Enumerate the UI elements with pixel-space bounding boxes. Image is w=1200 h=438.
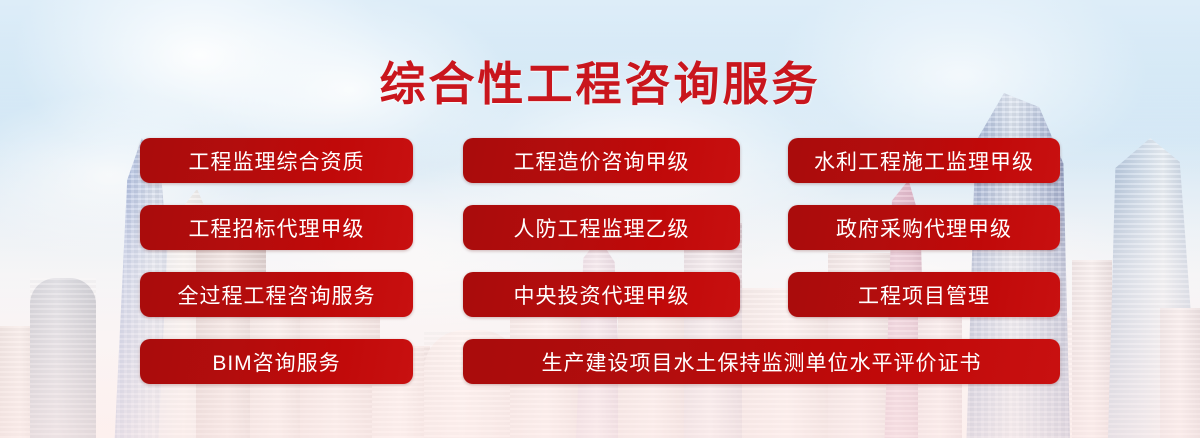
qualification-badge[interactable]: 中央投资代理甲级 xyxy=(463,272,740,317)
qualification-badge[interactable]: 工程造价咨询甲级 xyxy=(463,138,740,183)
qualification-badge[interactable]: BIM咨询服务 xyxy=(140,339,413,384)
qualification-badge[interactable]: 政府采购代理甲级 xyxy=(788,205,1060,250)
qualification-banner: 综合性工程咨询服务 工程监理综合资质 工程造价咨询甲级 水利工程施工监理甲级 工… xyxy=(0,0,1200,438)
qualification-badge[interactable]: 工程监理综合资质 xyxy=(140,138,413,183)
qualification-badge-wide[interactable]: 生产建设项目水土保持监测单位水平评价证书 xyxy=(463,339,1060,384)
qualification-badge[interactable]: 水利工程施工监理甲级 xyxy=(788,138,1060,183)
page-title: 综合性工程咨询服务 xyxy=(0,48,1200,114)
qualification-grid: 工程监理综合资质 工程造价咨询甲级 水利工程施工监理甲级 工程招标代理甲级 人防… xyxy=(140,138,1060,384)
banner-content: 综合性工程咨询服务 工程监理综合资质 工程造价咨询甲级 水利工程施工监理甲级 工… xyxy=(0,0,1200,438)
qualification-badge[interactable]: 工程项目管理 xyxy=(788,272,1060,317)
qualification-row: BIM咨询服务 生产建设项目水土保持监测单位水平评价证书 xyxy=(140,339,1060,384)
qualification-row: 全过程工程咨询服务 中央投资代理甲级 工程项目管理 xyxy=(140,272,1060,317)
qualification-badge[interactable]: 工程招标代理甲级 xyxy=(140,205,413,250)
qualification-badge[interactable]: 全过程工程咨询服务 xyxy=(140,272,413,317)
qualification-badge[interactable]: 人防工程监理乙级 xyxy=(463,205,740,250)
qualification-row: 工程招标代理甲级 人防工程监理乙级 政府采购代理甲级 xyxy=(140,205,1060,250)
qualification-row: 工程监理综合资质 工程造价咨询甲级 水利工程施工监理甲级 xyxy=(140,138,1060,183)
